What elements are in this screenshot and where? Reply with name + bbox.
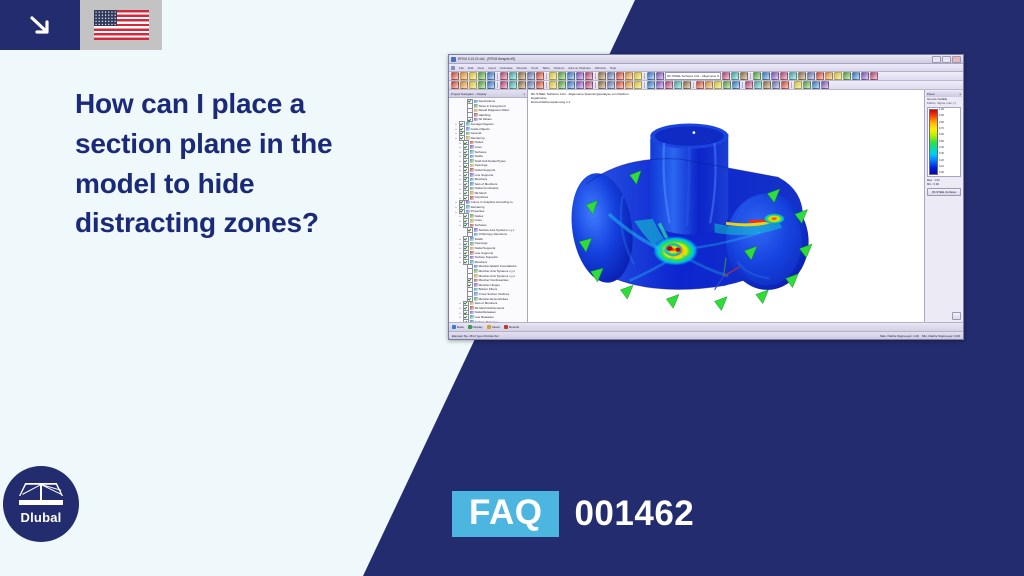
tree-expander-icon[interactable]: + [458,223,462,227]
menu-item-view[interactable]: View [477,66,484,70]
top-badge-row [0,0,162,50]
fea-model-graphic [528,104,924,322]
toolbar-icon-x14[interactable] [870,72,878,80]
toolbar-icon-19[interactable] [598,81,606,89]
toolbar-icon-17[interactable] [585,81,593,89]
toolbar-icon-37[interactable] [745,81,753,89]
graphics-view[interactable]: RF-STEEL Surfaces CA1 - Allgemeine Spann… [528,90,924,322]
tree-checkbox[interactable] [463,319,469,322]
tab-icon [468,325,472,329]
tree-item-icon [474,113,478,117]
tree-item-icon [470,145,474,149]
toolbar-icon-7[interactable] [500,72,508,80]
toolbar-separator [644,73,645,79]
toolbar-separator [750,73,751,79]
menu-item-calculate[interactable]: Calculate [500,66,513,70]
headline-line-1: How can I place a [75,84,405,124]
toolbar-icon-20[interactable] [607,72,615,80]
tab-icon [452,325,456,329]
headline-line-2: section plane in the [75,124,405,164]
toolbar-icon-5[interactable] [487,72,495,80]
toolbar-icon-19[interactable] [598,72,606,80]
tree-item-icon [470,191,474,195]
toolbar-icon-2[interactable] [460,72,468,80]
toolbar-icon-34[interactable] [723,81,731,89]
toolbar-icon-31[interactable] [696,81,704,89]
page-title: How can I place a section plane in the m… [75,84,405,243]
toolbar-icon-7[interactable] [500,81,508,89]
tree-expander-icon[interactable] [462,228,466,232]
tree-item-icon [470,141,474,145]
tree-item-icon [466,122,470,126]
toolbar-icon-1[interactable] [451,72,459,80]
tree-item-icon [474,118,478,122]
toolbar-icon-4[interactable] [478,72,486,80]
status-metric: Max. Fläche Sigma,eqv: 1.00 [880,334,919,338]
results-legend-subtitle: Fläche, Sigma, max. [-] [926,102,962,105]
arrow-down-right-icon [0,0,80,50]
faq-number: 001462 [574,494,694,534]
tab-label: Data [457,325,464,329]
toolbar-icon-5[interactable] [487,81,495,89]
toolbar-icon-45[interactable] [812,81,820,89]
tree-expander-icon[interactable]: + [458,145,462,149]
tree-item-icon [470,256,474,260]
tab-icon [504,325,508,329]
tab-data[interactable]: Data [452,325,464,329]
tree-item-icon [470,311,474,315]
tree-item-icon [470,237,474,241]
menu-item-window[interactable]: Window [595,66,606,70]
menu-item-file[interactable]: File [459,66,464,70]
tree-item-label: Surface Releases [475,320,499,323]
tree-expander-icon[interactable]: + [458,177,462,181]
brand-name: Dlubal [21,510,62,525]
results-module-button[interactable]: RF-STEEL Surfaces [927,188,961,196]
tree-expander-icon[interactable]: + [454,122,458,126]
tree-item-icon [470,168,474,172]
toolbar-icon-16[interactable] [576,72,584,80]
tree-expander-icon[interactable]: + [458,242,462,246]
toolbar-separator [644,82,645,88]
tree-item-icon [470,251,474,255]
navigator-tree[interactable]: DescriptionsSizes in ForegroundResult Di… [449,98,527,322]
navigator-close-icon[interactable]: x [524,92,526,96]
toolbar-icon-15[interactable] [567,81,575,89]
color-scale-tick: 0.70 [939,128,959,131]
toolbar-icon-40[interactable] [772,81,780,89]
tree-expander-icon[interactable]: + [458,164,462,168]
toolbar-icon-4[interactable] [478,81,486,89]
toolbar-icon-27[interactable] [722,72,730,80]
results-min-value: 0.00 [934,183,939,186]
toolbar-icon-9[interactable] [518,72,526,80]
tree-expander-icon[interactable] [462,283,466,287]
tree-expander-icon[interactable]: + [458,315,462,319]
tree-expander-icon[interactable]: + [458,251,462,255]
status-metric: Min. Fläche Sigma,eqv: 0.00 [922,334,960,338]
toolbar-separator [546,82,547,88]
menu-grip-icon [451,66,455,70]
toolbar-icon-41[interactable] [781,81,789,89]
tree-expander-icon[interactable]: + [458,320,462,322]
tree-item-icon [466,127,470,131]
toolbar-icon-8[interactable] [509,81,517,89]
tree-expander-icon[interactable]: + [454,131,458,135]
toolbar-icon-3[interactable] [469,72,477,80]
toolbar-icon-26[interactable] [656,81,664,89]
color-scale-tick: 0.60 [939,134,959,137]
headline-line-3: model to hide [75,164,405,204]
tree-item-icon [474,100,478,104]
results-max-label: Max : [927,179,934,182]
color-scale-tick: 1.00 [939,109,959,112]
tree-expander-icon[interactable] [462,99,466,103]
bridge-icon [19,483,63,507]
toolbar-icon-11[interactable] [536,81,544,89]
window-controls[interactable] [932,56,961,63]
toolbar-icon-x4[interactable] [780,72,788,80]
toolbar-icon-32[interactable] [705,81,713,89]
toolbar-icon-x7[interactable] [807,72,815,80]
tree-item-icon [466,205,470,209]
toolbar-icon-x2[interactable] [762,72,770,80]
menu-item-insert[interactable]: Insert [488,66,496,70]
tree-item-icon [470,178,474,182]
results-panel-close-icon[interactable]: x [960,92,962,96]
color-scale-ticks: 1.000.900.800.700.600.500.400.300.200.10… [938,109,959,175]
tree-item-icon [470,173,474,177]
toolbar-icon-x8[interactable] [816,72,824,80]
tree-expander-icon[interactable] [462,269,466,273]
tree-expander-icon[interactable] [462,278,466,282]
toolbar-secondary[interactable] [449,81,963,90]
tree-expander-icon[interactable]: + [458,255,462,259]
tree-expander-icon[interactable]: + [454,136,458,140]
model-3d-viewport[interactable] [528,104,924,322]
results-panel-spacer [926,198,962,311]
tree-expander-icon[interactable] [462,274,466,278]
menu-item-options[interactable]: Options [554,66,565,70]
tree-item-icon [470,214,474,218]
toolbar-icon-27[interactable] [665,81,673,89]
toolbar-icon-9[interactable] [518,81,526,89]
tree-item-icon [470,159,474,163]
tree-expander-icon[interactable]: + [458,187,462,191]
toolbar-icon-39[interactable] [763,81,771,89]
tree-expander-icon[interactable]: + [458,141,462,145]
toolbar-icon-15[interactable] [567,72,575,80]
toolbar-icon-13[interactable] [549,81,557,89]
tree-item-icon [470,219,474,223]
tree-item-icon [474,274,478,278]
toolbar-separator [497,82,498,88]
color-scale-tick: 0.10 [939,166,959,169]
menu-item-add-on-modules[interactable]: Add-on Modules [568,66,591,70]
tree-expander-icon[interactable]: + [458,191,462,195]
tree-item-icon [470,242,474,246]
toolbar-separator [497,73,498,79]
maximize-button[interactable] [942,56,951,63]
tree-expander-icon[interactable] [462,288,466,292]
tab-views[interactable]: Views [487,325,500,329]
tree-item-icon [470,182,474,186]
menu-item-table[interactable]: Table [542,66,549,70]
toolbar-icon-23[interactable] [634,72,642,80]
results-panel-options-button[interactable] [952,312,961,320]
tree-expander-icon[interactable] [462,113,466,117]
tree-item-icon [470,306,474,310]
status-bar: Element No. 28 of type Circular Arc Max.… [449,331,963,339]
toolbar-icon-21[interactable] [616,81,624,89]
toolbar-icon-35[interactable] [732,81,740,89]
toolbar-icon-x10[interactable] [834,72,842,80]
toolbar-icon-21[interactable] [616,72,624,80]
tree-expander-icon[interactable]: + [454,210,458,214]
toolbar-icon-25[interactable] [647,81,655,89]
toolbar-icon-20[interactable] [607,81,615,89]
results-panel-title: Panel [927,92,935,96]
tree-expander-icon[interactable]: + [458,173,462,177]
tree-expander-icon[interactable]: + [458,237,462,241]
toolbar-icon-3[interactable] [469,81,477,89]
toolbar-icon-38[interactable] [754,81,762,89]
toolbar-icon-17[interactable] [585,72,593,80]
tab-label: Display [473,325,483,329]
menu-item-tools[interactable]: Tools [531,66,538,70]
color-scale-tick: 0.40 [939,147,959,150]
toolbar-icon-1[interactable] [451,81,459,89]
toolbar-icon-2[interactable] [460,81,468,89]
toolbar-icon-x5[interactable] [789,72,797,80]
faq-footer: FAQ 001462 [452,491,694,537]
toolbar-icon-22[interactable] [625,81,633,89]
dlubal-logo: Dlubal [3,466,79,542]
color-scale-tick: 0.00 [939,172,959,175]
tree-item-icon [470,150,474,154]
toolbar-separator [595,82,596,88]
status-right-group: Max. Fläche Sigma,eqv: 1.00Min. Fläche S… [880,334,960,338]
results-max-value: 1.00 [934,179,939,182]
tree-expander-icon[interactable]: + [458,301,462,305]
load-case-combobox[interactable]: RF-STEEL Surfaces CA1 - Allgemeine S [665,72,721,80]
toolbar-icon-x9[interactable] [825,72,833,80]
navigator-header: Project Navigator - Display x [449,90,527,98]
tree-expander-icon[interactable]: + [454,200,458,204]
toolbar-icon-26[interactable] [656,72,664,80]
toolbar-icon-10[interactable] [527,72,535,80]
tree-item-icon [470,247,474,251]
tree-expander-icon[interactable]: + [458,154,462,158]
toolbar-icon-x12[interactable] [852,72,860,80]
toolbar-icon-29[interactable] [740,72,748,80]
tab-display[interactable]: Display [468,325,483,329]
color-scale-tick: 0.90 [939,115,959,118]
tree-expander-icon[interactable]: + [458,260,462,264]
faq-tag-badge: FAQ [452,491,559,537]
tree-item-icon [470,302,474,306]
toolbar-separator [791,82,792,88]
tree-expander-icon[interactable] [462,104,466,108]
toolbar-separator [595,73,596,79]
toolbar-icon-25[interactable] [647,72,655,80]
color-scale-tick: 0.30 [939,153,959,156]
menu-item-edit[interactable]: Edit [468,66,473,70]
close-button[interactable] [952,56,961,63]
tree-expander-icon[interactable]: + [458,168,462,172]
results-min-row: Min : 0.00 [926,183,962,187]
tree-expander-icon[interactable] [462,265,466,269]
us-flag-icon [94,10,149,40]
toolbar-icon-x3[interactable] [771,72,779,80]
tree-item-icon [470,187,474,191]
tree-item-icon [474,297,478,301]
tree-expander-icon[interactable]: + [454,127,458,131]
project-navigator[interactable]: Project Navigator - Display x Descriptio… [449,90,528,322]
tree-item-icon [470,164,474,168]
tree-expander-icon[interactable] [462,108,466,112]
color-scale-tick: 0.20 [939,160,959,163]
app-icon [451,57,456,62]
tree-item-icon [474,288,478,292]
application-window[interactable]: RFEM 5.23.02 x64 - [RFEM Beispiel.rf5] F… [448,54,964,340]
toolbar-icon-28[interactable] [674,81,682,89]
toolbar-icon-23[interactable] [634,81,642,89]
toolbar-separator [742,82,743,88]
color-scale-tick: 0.50 [939,141,959,144]
results-panel[interactable]: Panel x Grenze Gefälle Fläche, Sigma, ma… [924,90,963,322]
tree-item-icon [474,279,478,283]
toolbar-icon-43[interactable] [794,81,802,89]
toolbar-icon-8[interactable] [509,72,517,80]
tab-results[interactable]: Results [504,325,519,329]
tree-item[interactable]: +Surface Releases [450,320,527,323]
tab-icon [487,325,491,329]
tree-item-icon [470,320,474,322]
tree-item-icon [474,283,478,287]
toolbar-separator [546,73,547,79]
tree-item-icon [474,233,478,237]
tree-expander-icon[interactable]: + [458,311,462,315]
tree-expander-icon[interactable]: + [458,306,462,310]
toolbar-icon-x11[interactable] [843,72,851,80]
headline-line-4: distracting zones? [75,203,405,243]
app-body: Project Navigator - Display x Descriptio… [449,90,963,322]
tree-item-icon [466,201,470,205]
tree-expander-icon[interactable]: + [458,150,462,154]
tree-item-icon [474,104,478,108]
toolbar-icon-14[interactable] [558,81,566,89]
tree-expander-icon[interactable]: + [458,214,462,218]
tree-expander-icon[interactable]: + [458,159,462,163]
bottom-tab-bar[interactable]: DataDisplayViewsResults [449,322,963,331]
results-min-label: Min : [927,183,933,186]
view-caption: RF-STEEL Surfaces CA1 - Allgemeine Spann… [528,90,924,104]
toolbar-primary[interactable]: RF-STEEL Surfaces CA1 - Allgemeine S [449,72,963,81]
toolbar-icon-46[interactable] [821,81,829,89]
toolbar-icon-14[interactable] [558,72,566,80]
toolbar-separator [693,82,694,88]
tree-item-icon [470,196,474,200]
tree-item-icon [474,292,478,296]
toolbar-icon-28[interactable] [731,72,739,80]
color-gradient-bar [929,109,938,175]
menu-item-results[interactable]: Results [517,66,527,70]
menu-bar[interactable]: FileEditViewInsertCalculateResultsToolsT… [449,64,963,72]
flag-badge [80,0,162,50]
window-titlebar: RFEM 5.23.02 x64 - [RFEM Beispiel.rf5] [449,55,963,64]
tree-item-icon [474,109,478,113]
toolbar-icon-22[interactable] [625,72,633,80]
tree-expander-icon[interactable]: + [458,219,462,223]
toolbar-icon-x1[interactable] [753,72,761,80]
color-scale[interactable]: 1.000.900.800.700.600.500.400.300.200.10… [927,107,961,177]
toolbar-icon-x6[interactable] [798,72,806,80]
toolbar-icon-29[interactable] [683,81,691,89]
toolbar-icon-11[interactable] [536,72,544,80]
toolbar-icon-x13[interactable] [861,72,869,80]
tab-label: Views [492,325,500,329]
color-scale-tick: 0.80 [939,122,959,125]
tab-label: Results [509,325,519,329]
toolbar-icon-16[interactable] [576,81,584,89]
tree-item-icon [474,265,478,269]
tree-item-icon [466,132,470,136]
menu-item-help[interactable]: Help [610,66,616,70]
toolbar-icon-10[interactable] [527,81,535,89]
toolbar-icon-33[interactable] [714,81,722,89]
tree-item-icon [474,269,478,273]
status-text: Element No. 28 of type Circular Arc [452,334,499,338]
tree-item-icon [470,155,474,159]
toolbar-icon-13[interactable] [549,72,557,80]
tree-expander-icon[interactable]: + [458,246,462,250]
window-title: RFEM 5.23.02 x64 - [RFEM Beispiel.rf5] [458,57,515,61]
toolbar-icon-44[interactable] [803,81,811,89]
minimize-button[interactable] [932,56,941,63]
navigator-title: Project Navigator - Display [451,92,487,96]
tree-expander-icon[interactable]: + [458,182,462,186]
tree-item-icon [470,315,474,319]
tree-item-icon [474,228,478,232]
tree-expander-icon[interactable]: + [454,205,458,209]
tree-expander-icon[interactable] [462,292,466,296]
